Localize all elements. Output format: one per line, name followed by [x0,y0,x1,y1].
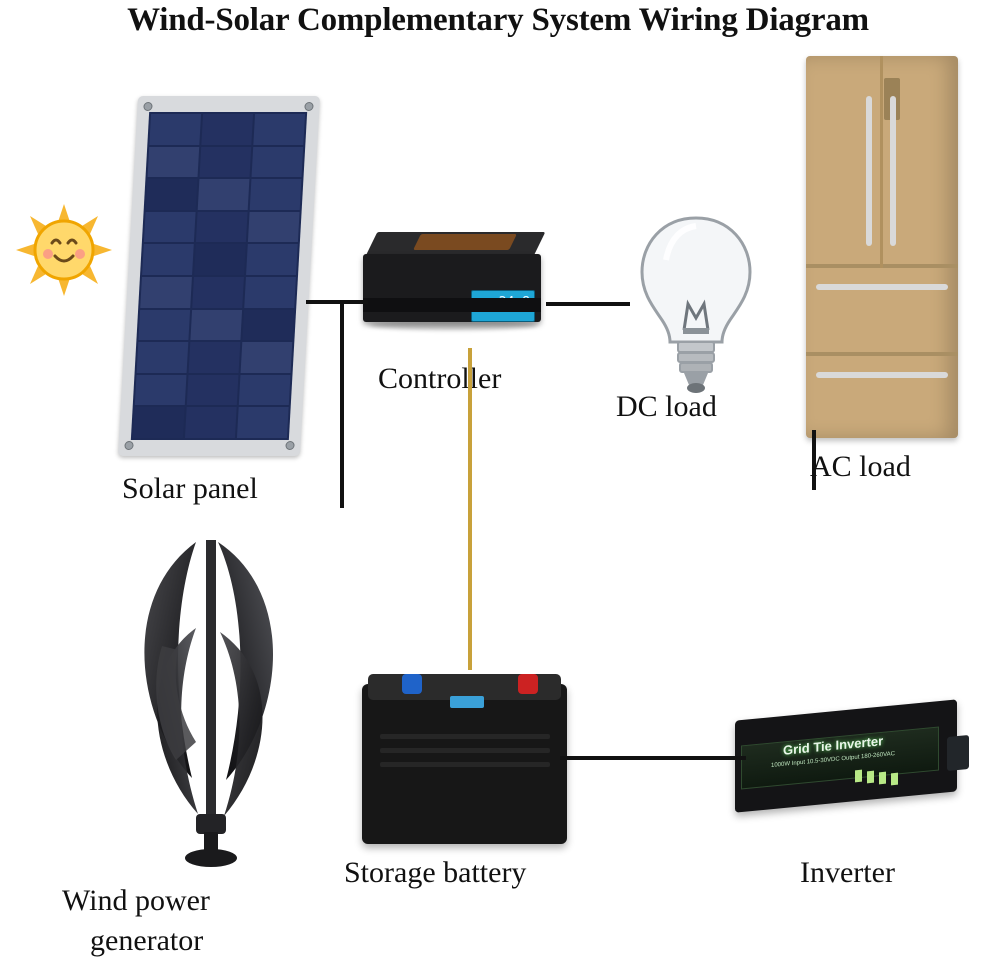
inverter-label: Inverter [800,856,895,890]
wire-solar-panel-to-controller [306,300,368,304]
solar-panel-frame [118,96,320,456]
battery-negative-terminal [402,674,422,694]
storage-battery-label: Storage battery [344,856,526,890]
page-title: Wind-Solar Complementary System Wiring D… [0,2,996,39]
solar-panel-label: Solar panel [122,472,258,506]
wind-generator-label-line1: Wind power [62,884,210,918]
ac-load-label: AC load [810,450,911,484]
sun-icon [8,196,120,304]
refrigerator [806,56,958,438]
light-bulb-icon [626,212,766,397]
solar-panel-cells [131,112,307,440]
battery-positive-terminal [518,674,538,694]
wire-solar-vertical [340,300,344,508]
storage-battery [362,660,567,860]
diagram-canvas: Wind-Solar Complementary System Wiring D… [0,0,996,973]
controller-display: 24.8 [471,290,535,322]
controller-display-value: 24.8 [499,295,530,310]
vertical-axis-wind-turbine-icon [100,528,330,868]
controller-label: Controller [378,362,501,396]
dc-load-label: DC load [616,390,717,424]
wire-controller-to-dc-load [546,302,630,306]
solar-panel [128,96,310,456]
wind-generator-label-line2: generator [90,924,203,958]
wire-battery-to-inverter [560,756,746,760]
wire-inverter-to-ac-load [812,430,816,490]
wire-controller-to-battery [468,348,472,670]
grid-tie-inverter: Grid Tie Inverter 1000W Input 10.5-30VDC… [735,700,970,830]
charge-controller: 24.8 [363,228,548,348]
